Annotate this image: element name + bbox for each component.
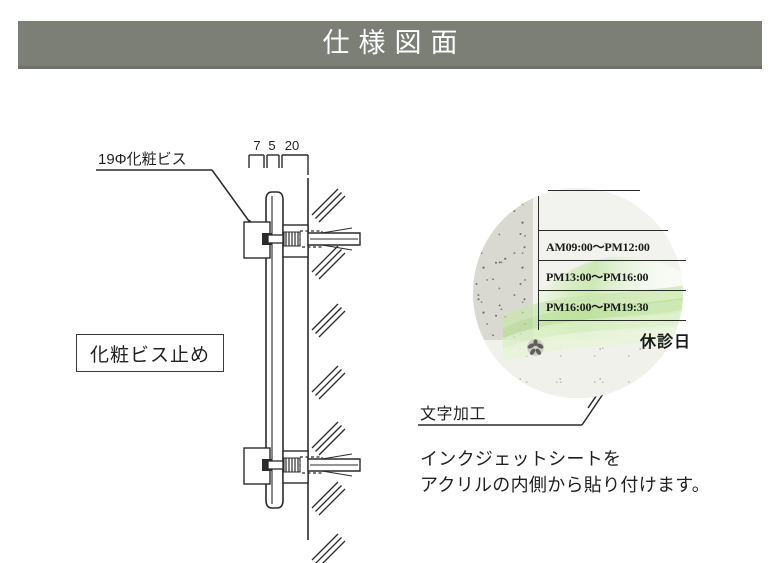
table-row: PM16:00〜PM19:30 bbox=[538, 290, 686, 320]
lettering-note: インクジェットシートを アクリルの内側から貼り付けます。 bbox=[420, 446, 710, 498]
page-title: 仕様図面 bbox=[314, 30, 467, 57]
table-row: AM09:00〜PM12:00 bbox=[538, 230, 668, 260]
lettering-process-label: 文字加工 bbox=[420, 400, 486, 424]
acrylic-panel bbox=[266, 192, 283, 508]
hours-row-text: PM16:00〜PM19:30 bbox=[546, 298, 648, 315]
dimension-value-20: 20 bbox=[279, 138, 305, 153]
hours-row-text: AM09:00〜PM12:00 bbox=[546, 238, 650, 255]
dimension-brackets bbox=[249, 155, 308, 175]
screw-callout-leader bbox=[96, 170, 254, 228]
screw-callout-label: 19Φ化粧ビス bbox=[98, 148, 187, 169]
lower-fixing-detail bbox=[244, 448, 360, 484]
upper-fixing-detail bbox=[244, 222, 360, 258]
hours-bottom-rule bbox=[538, 320, 686, 321]
closed-day-label: 休診日 bbox=[640, 328, 691, 352]
mounting-method-box: 化粧ビス止め bbox=[76, 334, 224, 372]
dimension-labels: 7 5 20 bbox=[249, 138, 319, 153]
wall-section bbox=[308, 178, 345, 563]
page-header-banner: 仕様図面 bbox=[18, 21, 762, 69]
hours-top-rule bbox=[548, 190, 640, 191]
dimension-value-5: 5 bbox=[265, 138, 279, 153]
hours-row-text: PM13:00〜PM16:00 bbox=[546, 268, 648, 285]
lettering-note-line-1: インクジェットシートを bbox=[420, 446, 710, 472]
table-row: PM13:00〜PM16:00 bbox=[538, 260, 686, 290]
flower-motif-icon bbox=[526, 338, 545, 357]
dimension-value-7: 7 bbox=[249, 138, 265, 153]
lettering-note-line-2: アクリルの内側から貼り付けます。 bbox=[420, 472, 710, 498]
